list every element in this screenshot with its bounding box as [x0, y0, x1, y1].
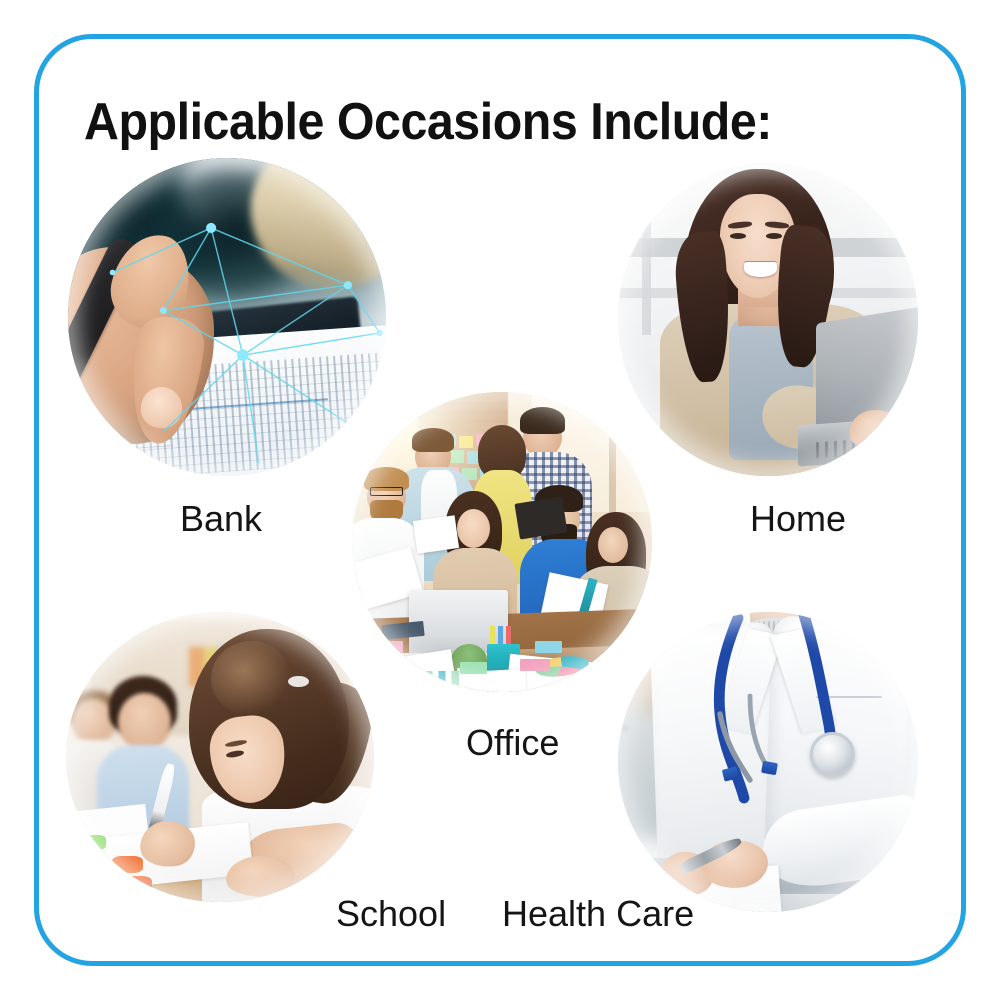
network-overlay-icon [68, 158, 386, 476]
occasion-image-bank [68, 158, 386, 476]
health-care-photo-icon [618, 612, 918, 912]
occasion-image-health-care [618, 612, 918, 912]
bank-photo-icon [68, 158, 386, 476]
home-photo-icon [618, 163, 918, 476]
page-title: Applicable Occasions Include: [84, 92, 772, 152]
school-photo-icon [66, 612, 374, 902]
occasion-label-school: School [336, 893, 446, 935]
occasion-label-office: Office [466, 722, 559, 764]
occasion-image-school [66, 612, 374, 902]
poster-canvas: Applicable Occasions Include: [0, 0, 1000, 1000]
office-photo-icon [352, 392, 652, 692]
occasion-label-health-care: Health Care [502, 893, 694, 935]
occasion-image-office [352, 392, 652, 692]
occasion-image-home [618, 163, 918, 476]
occasion-label-home: Home [750, 498, 846, 540]
occasion-label-bank: Bank [180, 498, 262, 540]
